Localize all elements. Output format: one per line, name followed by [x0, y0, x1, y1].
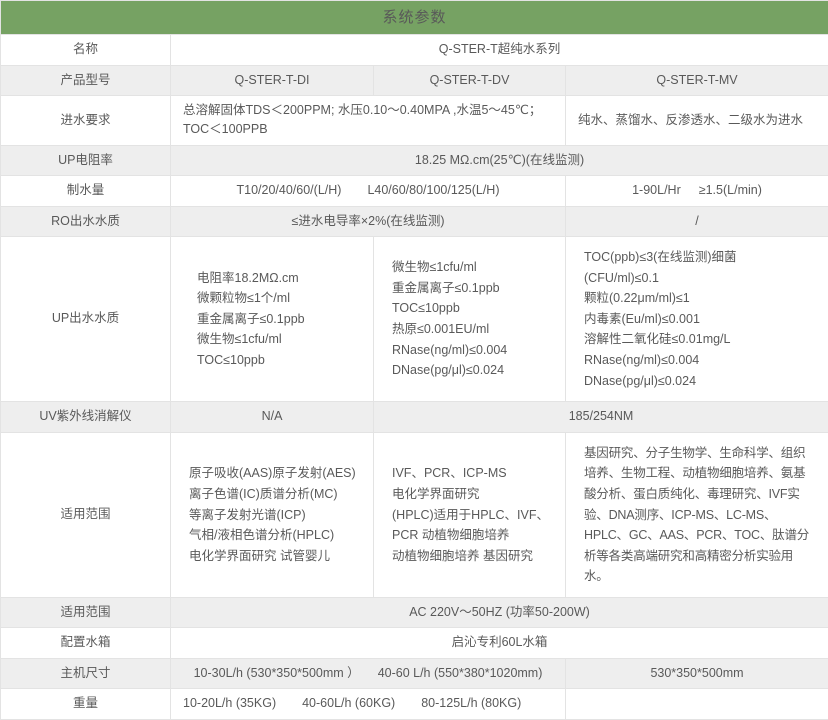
row-value-uv-di: N/A — [171, 402, 374, 432]
system-parameters-table: 系统参数 名称 Q-STER-T超纯水系列 产品型号 Q-STER-T-DI Q… — [0, 0, 828, 720]
water-output-dv: L40/60/80/100/125(L/H) — [367, 181, 499, 200]
table-row-up-quality: UP出水水质 电阻率18.2MΩ.cm 微颗粒物≤1个/ml 重金属离子≤0.1… — [1, 236, 828, 401]
table-row-dimensions: 主机尺寸 10-30L/h (530*350*500mm ）40-60 L/h … — [1, 658, 828, 688]
row-value-ro-quality-di-dv: ≤进水电导率×2%(在线监测) — [171, 206, 566, 236]
table-row-uv: UV紫外线消解仪 N/A 185/254NM — [1, 402, 828, 432]
weight-c: 80-125L/h (80KG) — [421, 694, 521, 713]
row-label-inlet: 进水要求 — [1, 96, 171, 146]
row-label-water-output: 制水量 — [1, 176, 171, 206]
row-value-tank: 启沁专利60L水箱 — [171, 628, 828, 658]
row-value-scope-dv: IVF、PCR、ICP-MS 电化学界面研究 (HPLC)适用于HPLC、IVF… — [374, 432, 566, 597]
row-label-scope: 适用范围 — [1, 432, 171, 597]
row-label-tank: 配置水箱 — [1, 628, 171, 658]
column-header-dv: Q-STER-T-DV — [374, 65, 566, 95]
table-title-row: 系统参数 — [1, 1, 828, 35]
table-row-power: 适用范围 AC 220V～50HZ (功率50-200W) — [1, 598, 828, 628]
water-output-mv-rate: 1-90L/Hr — [632, 181, 681, 200]
row-value-weight-di-dv: 10-20L/h (35KG)40-60L/h (60KG)80-125L/h … — [171, 689, 566, 719]
row-value-uv-dv-mv: 185/254NM — [374, 402, 828, 432]
row-value-scope-mv: 基因研究、分子生物学、生命科学、组织培养、生物工程、动植物细胞培养、氨基酸分析、… — [566, 432, 828, 597]
table-row-weight: 重量 10-20L/h (35KG)40-60L/h (60KG)80-125L… — [1, 689, 828, 719]
row-value-inlet-mv: 纯水、蒸馏水、反渗透水、二级水为进水 — [566, 96, 828, 146]
row-label-ro-quality: RO出水水质 — [1, 206, 171, 236]
row-label-power: 适用范围 — [1, 598, 171, 628]
weight-a: 10-20L/h (35KG) — [183, 694, 276, 713]
row-value-dimensions-di-dv: 10-30L/h (530*350*500mm ）40-60 L/h (550*… — [171, 658, 566, 688]
row-label-weight: 重量 — [1, 689, 171, 719]
row-label-model: 产品型号 — [1, 65, 171, 95]
table-row-scope: 适用范围 原子吸收(AAS)原子发射(AES) 离子色谱(IC)质谱分析(MC)… — [1, 432, 828, 597]
table-row-tank: 配置水箱 启沁专利60L水箱 — [1, 628, 828, 658]
table-row-ro-quality: RO出水水质 ≤进水电导率×2%(在线监测) / — [1, 206, 828, 236]
row-label-up-quality: UP出水水质 — [1, 236, 171, 401]
row-value-up-quality-di: 电阻率18.2MΩ.cm 微颗粒物≤1个/ml 重金属离子≤0.1ppb 微生物… — [171, 236, 374, 401]
row-value-inlet-di-dv: 总溶解固体TDS＜200PPM; 水压0.10～0.40MPA ,水温5～45℃… — [171, 96, 566, 146]
row-value-up-quality-mv: TOC(ppb)≤3(在线监测)细菌 (CFU/ml)≤0.1 颗粒(0.22μ… — [566, 236, 828, 401]
row-value-power: AC 220V～50HZ (功率50-200W) — [171, 598, 828, 628]
dimensions-large: 40-60 L/h (550*380*1020mm) — [378, 664, 543, 683]
row-value-name: Q-STER-T超纯水系列 — [171, 35, 828, 65]
table-row-water-output: 制水量 T10/20/40/60/(L/H)L40/60/80/100/125(… — [1, 176, 828, 206]
weight-b: 40-60L/h (60KG) — [302, 694, 395, 713]
water-output-di: T10/20/40/60/(L/H) — [237, 181, 342, 200]
row-value-weight-mv — [566, 689, 828, 719]
row-value-scope-di: 原子吸收(AAS)原子发射(AES) 离子色谱(IC)质谱分析(MC) 等离子发… — [171, 432, 374, 597]
table-row-model: 产品型号 Q-STER-T-DI Q-STER-T-DV Q-STER-T-MV — [1, 65, 828, 95]
row-value-up-quality-dv: 微生物≤1cfu/ml 重金属离子≤0.1ppb TOC≤10ppb 热原≤0.… — [374, 236, 566, 401]
row-value-water-output-mv: 1-90L/Hr≥1.5(L/min) — [566, 176, 828, 206]
page-title: 系统参数 — [1, 1, 828, 35]
dimensions-small: 10-30L/h (530*350*500mm ） — [194, 664, 360, 683]
water-output-mv-flow: ≥1.5(L/min) — [699, 181, 762, 200]
table-row-up-resistivity: UP电阻率 18.25 MΩ.cm(25℃)(在线监测) — [1, 145, 828, 175]
column-header-mv: Q-STER-T-MV — [566, 65, 828, 95]
row-label-name: 名称 — [1, 35, 171, 65]
table-row-inlet: 进水要求 总溶解固体TDS＜200PPM; 水压0.10～0.40MPA ,水温… — [1, 96, 828, 146]
row-value-dimensions-mv: 530*350*500mm — [566, 658, 828, 688]
row-label-up-resistivity: UP电阻率 — [1, 145, 171, 175]
table-row-name: 名称 Q-STER-T超纯水系列 — [1, 35, 828, 65]
row-value-ro-quality-mv: / — [566, 206, 828, 236]
row-value-water-output-di-dv: T10/20/40/60/(L/H)L40/60/80/100/125(L/H) — [171, 176, 566, 206]
row-value-up-resistivity: 18.25 MΩ.cm(25℃)(在线监测) — [171, 145, 828, 175]
row-label-dimensions: 主机尺寸 — [1, 658, 171, 688]
row-label-uv: UV紫外线消解仪 — [1, 402, 171, 432]
column-header-di: Q-STER-T-DI — [171, 65, 374, 95]
